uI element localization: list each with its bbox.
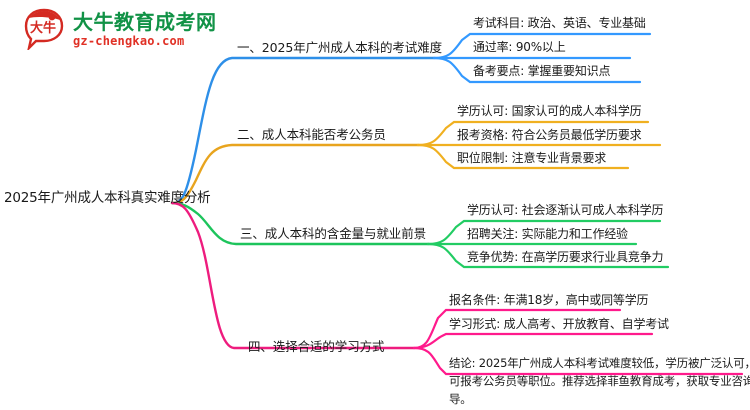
- leaf-node-4-2[interactable]: 学习形式: 成人高考、开放教育、自学考试: [449, 318, 669, 332]
- leaf-node-4-1[interactable]: 报名条件: 年满18岁，高中或同等学历: [449, 294, 648, 308]
- leaf-node-1-1[interactable]: 考试科目: 政治、英语、专业基础: [473, 17, 646, 31]
- leaf-node-1-3[interactable]: 备考要点: 掌握重要知识点: [473, 65, 610, 79]
- leaf-node-4-3-conclusion[interactable]: 结论: 2025年广州成人本科考试难度较低，学历被广泛认可，考生可报考公务员等职…: [449, 355, 750, 408]
- branch-node-3[interactable]: 三、成人本科的含金量与就业前景: [240, 227, 426, 241]
- mindmap-canvas: 大牛 大牛教育成考网 gz-chengkao.com 2025年广州成人本科真实…: [0, 0, 750, 410]
- branch-node-2[interactable]: 二、成人本科能否考公务员: [237, 128, 386, 142]
- leaf-node-2-3[interactable]: 职位限制: 注意专业背景要求: [457, 152, 606, 166]
- branch-node-4[interactable]: 四、选择合适的学习方式: [248, 340, 384, 354]
- leaf-node-3-3[interactable]: 竞争优势: 在高学历要求行业具竞争力: [467, 251, 663, 265]
- root-node[interactable]: 2025年广州成人本科真实难度分析: [4, 191, 210, 207]
- leaf-node-3-2[interactable]: 招聘关注: 实际能力和工作经验: [467, 228, 628, 242]
- leaf-node-1-2[interactable]: 通过率: 90%以上: [473, 41, 566, 55]
- leaf-node-2-2[interactable]: 报考资格: 符合公务员最低学历要求: [457, 129, 641, 143]
- branch-node-1[interactable]: 一、2025年广州成人本科的考试难度: [237, 41, 442, 55]
- leaf-node-2-1[interactable]: 学历认可: 国家认可的成人本科学历: [457, 105, 641, 119]
- leaf-node-3-1[interactable]: 学历认可: 社会逐渐认可成人本科学历: [467, 204, 663, 218]
